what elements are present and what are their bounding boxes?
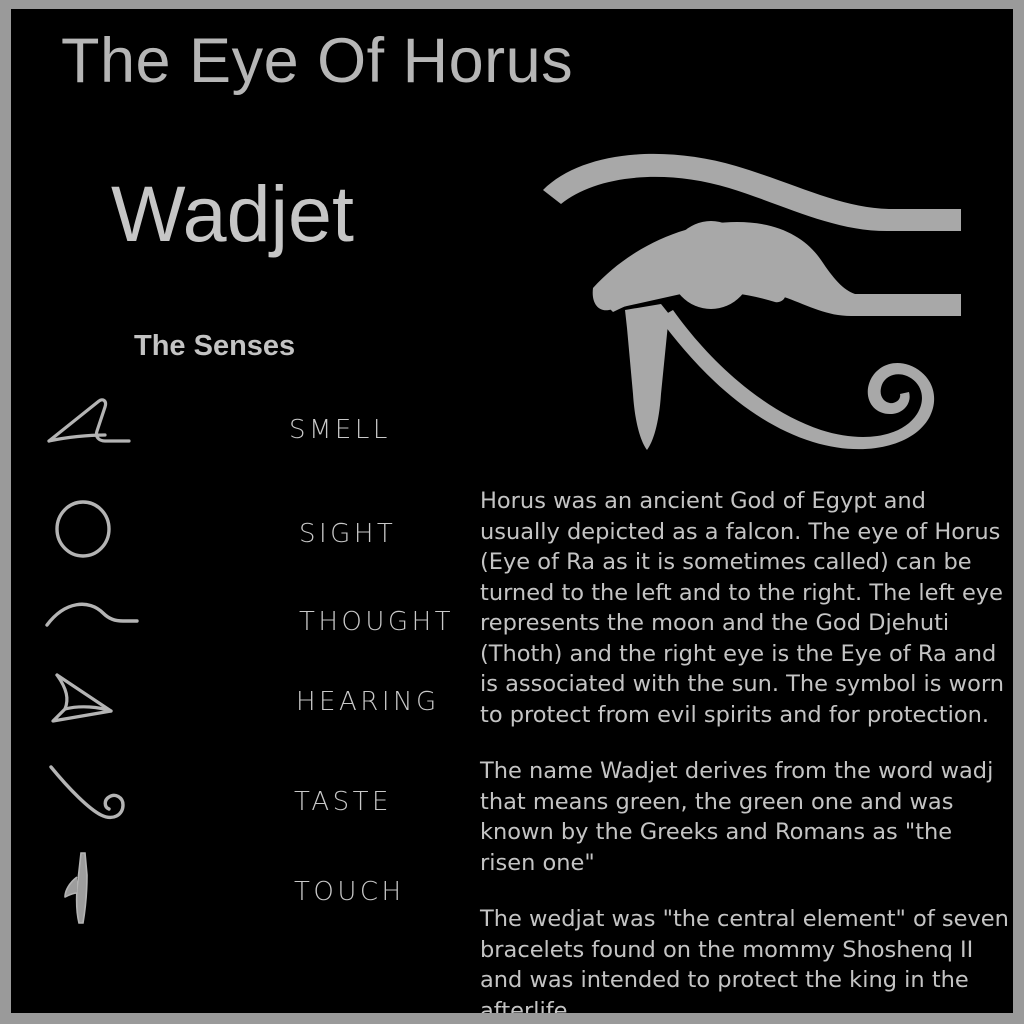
paragraph-horus: Horus was an ancient God of Egypt and us… (480, 486, 1010, 730)
sense-row-smell: SMELL (11, 387, 481, 467)
sense-row-touch: TOUCH (11, 849, 481, 929)
poster-canvas: The Eye Of Horus Wadjet The Senses (11, 9, 1013, 1013)
sense-label-smell: SMELL (289, 415, 391, 445)
page-subtitle: Wadjet (111, 168, 354, 260)
curved-brow-hieroglyph-icon (37, 579, 147, 659)
poster-frame: The Eye Of Horus Wadjet The Senses (0, 0, 1024, 1024)
sense-row-sight: SIGHT (11, 491, 481, 571)
sense-label-taste: TASTE (294, 787, 392, 817)
eyebrow-hieroglyph-icon (37, 387, 147, 467)
sense-row-taste: TASTE (11, 759, 481, 839)
senses-section-heading: The Senses (134, 330, 295, 363)
sense-label-touch: TOUCH (294, 877, 405, 907)
eye-of-horus-symbol (521, 142, 1001, 472)
page-title: The Eye Of Horus (61, 25, 573, 97)
spiral-tail-hieroglyph-icon (37, 759, 147, 839)
sense-row-thought: THOUGHT (11, 579, 481, 659)
sense-label-hearing: HEARING (296, 687, 440, 717)
teardrop-descender-hieroglyph-icon (37, 849, 147, 929)
description-text-block: Horus was an ancient God of Egypt and us… (480, 486, 1010, 1013)
sense-label-sight: SIGHT (299, 519, 396, 549)
paragraph-wadjet-name: The name Wadjet derives from the word wa… (480, 756, 1010, 878)
sense-label-thought: THOUGHT (299, 607, 454, 637)
paragraph-wedjat-bracelets: The wedjat was "the central element" of … (480, 904, 1010, 1013)
arrow-cheek-hieroglyph-icon (37, 659, 147, 739)
sense-row-hearing: HEARING (11, 659, 481, 739)
pupil-circle-hieroglyph-icon (37, 491, 147, 571)
